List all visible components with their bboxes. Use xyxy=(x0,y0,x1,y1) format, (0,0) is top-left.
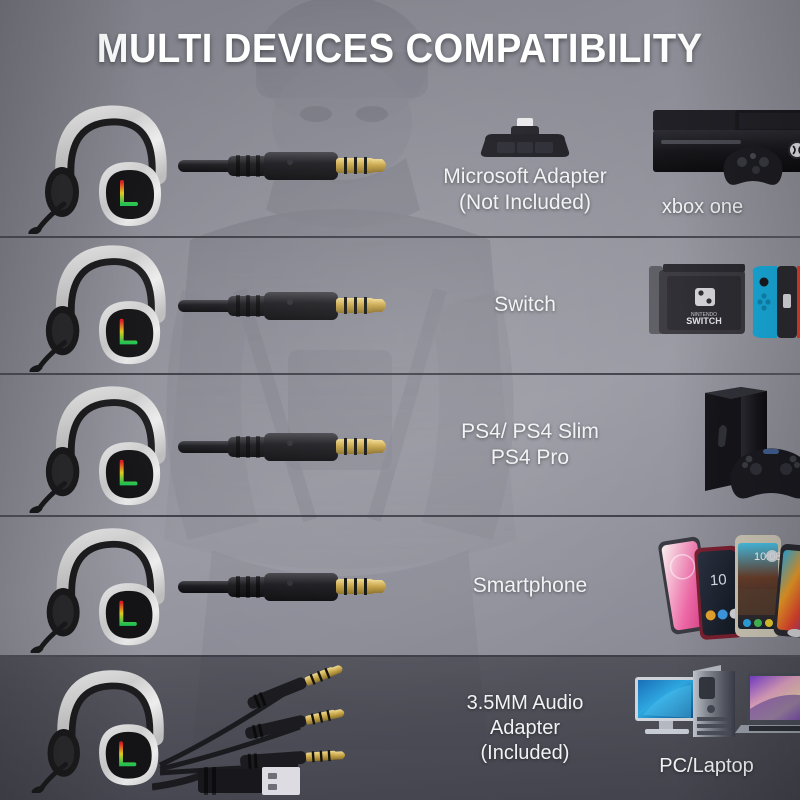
connector-cell xyxy=(210,657,425,800)
nintendo-switch-dock-icon: NINTENDO SWITCH xyxy=(645,260,800,350)
usb-a-connector-icon xyxy=(198,767,300,795)
ps4-label-cell: PS4/ PS4 Slim PS4 Pro xyxy=(425,375,635,515)
gaming-headset-icon xyxy=(26,523,176,653)
compatibility-row-switch: Switch NINTENDO SWITCH xyxy=(0,238,800,373)
compatibility-row-pc-laptop: 3.5MM Audio Adapter (Included) xyxy=(0,657,800,800)
device-cell: 10 10:08 xyxy=(635,517,800,655)
device-cell: NINTENDO SWITCH xyxy=(625,238,800,373)
connector-cell xyxy=(210,517,425,655)
adapter-label-line2: (Not Included) xyxy=(443,190,606,216)
audio-jack-3-5mm-icon xyxy=(178,142,398,190)
ps4-console-controller-icon xyxy=(683,385,800,503)
ps4-label-line2: PS4 Pro xyxy=(461,445,599,471)
audio-jack-3-5mm-icon xyxy=(178,282,398,330)
svg-text:SWITCH: SWITCH xyxy=(686,316,722,326)
connector-cell xyxy=(210,238,425,373)
device-cell xyxy=(635,375,800,515)
device-cell: xbox one xyxy=(625,98,800,236)
audio-adapter-label-cell: 3.5MM Audio Adapter (Included) xyxy=(425,657,625,800)
adapter-label-cell: Microsoft Adapter (Not Included) xyxy=(425,98,625,236)
connector-cell xyxy=(210,375,425,515)
audio-adapter-label-line1: 3.5MM Audio xyxy=(467,691,584,716)
connector-cell xyxy=(210,98,425,236)
svg-text:10: 10 xyxy=(709,571,727,589)
device-caption-pc: PC/Laptop xyxy=(619,755,794,778)
ps4-label-line1: PS4/ PS4 Slim xyxy=(461,419,599,445)
audio-jack-3-5mm-icon xyxy=(178,423,398,471)
xbox-one-console-icon xyxy=(649,104,800,196)
gaming-headset-icon xyxy=(26,240,176,372)
device-cell: PC/Laptop xyxy=(625,657,800,800)
pc-desktop-laptop-icon xyxy=(631,663,800,755)
audio-adapter-label-line2: Adapter xyxy=(467,716,584,741)
adapter-label-line1: Microsoft Adapter xyxy=(443,164,606,190)
title-bar: MULTI DEVICES COMPATIBILITY xyxy=(0,0,800,96)
audio-jack-3-5mm-icon xyxy=(178,563,398,611)
smartphone-label: Smartphone xyxy=(473,573,587,599)
smartphone-fan-icon: 10 10:08 xyxy=(649,529,800,641)
device-caption-xbox: xbox one xyxy=(615,196,790,219)
switch-label: Switch xyxy=(494,292,556,318)
compatibility-row-smartphone: Smartphone 10 xyxy=(0,517,800,655)
xbox-microsoft-adapter-icon xyxy=(477,118,573,158)
smartphone-label-cell: Smartphone xyxy=(425,517,635,655)
page-title: MULTI DEVICES COMPATIBILITY xyxy=(97,25,703,72)
compatibility-row-xbox-one: Microsoft Adapter (Not Included) xyxy=(0,98,800,236)
audio-adapter-label-line3: (Included) xyxy=(467,741,584,766)
gaming-headset-icon xyxy=(26,100,176,234)
compatibility-row-ps4: PS4/ PS4 Slim PS4 Pro xyxy=(0,375,800,515)
audio-splitter-usb-icon xyxy=(152,661,404,795)
infographic-page: MULTI DEVICES COMPATIBILITY xyxy=(0,0,800,800)
gaming-headset-icon xyxy=(26,381,176,513)
switch-label-cell: Switch xyxy=(425,238,625,373)
